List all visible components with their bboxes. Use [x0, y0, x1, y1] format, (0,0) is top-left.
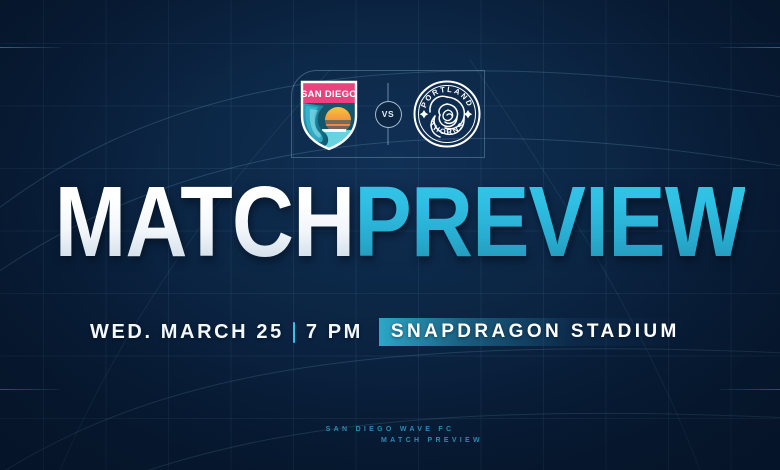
matchup-row: SAN DIEGO VS PORTLAND THORNS: [291, 62, 485, 166]
match-venue: SNAPDRAGON STADIUM: [391, 321, 680, 343]
footer-line-one: SAN DIEGO WAVE FC: [0, 424, 780, 435]
vs-divider: VS: [366, 62, 410, 166]
headline-word-match: MATCH: [55, 166, 355, 278]
match-time: 7 PM: [306, 321, 363, 343]
venue-highlight: SNAPDRAGON STADIUM: [379, 318, 686, 346]
match-date: WED. MARCH 25: [90, 321, 284, 343]
vs-badge: VS: [375, 101, 402, 128]
match-preview-graphic: SAN DIEGO VS PORTLAND THORNS: [0, 0, 780, 470]
portland-thorns-crest: PORTLAND THORNS: [412, 79, 482, 149]
home-crest-slot: SAN DIEGO: [292, 62, 366, 166]
footer-line-two: MATCH PREVIEW: [0, 435, 780, 446]
home-crest-wordmark: SAN DIEGO: [301, 89, 357, 100]
detail-separator: [293, 322, 295, 343]
corner-accent-top-right: [720, 47, 780, 48]
headline-word-preview: PREVIEW: [354, 166, 745, 278]
footer-watermark: SAN DIEGO WAVE FC MATCH PREVIEW: [0, 424, 780, 446]
corner-accent-bottom-right: [720, 389, 780, 390]
match-date-time: WED. MARCH 257 PM: [90, 321, 363, 344]
page-title: MATCHPREVIEW: [55, 172, 726, 272]
san-diego-wave-crest: SAN DIEGO: [298, 76, 360, 152]
away-crest-slot: PORTLAND THORNS: [410, 62, 484, 166]
corner-accent-bottom-left: [0, 389, 60, 390]
corner-accent-top-left: [0, 47, 60, 48]
match-details-bar: WED. MARCH 257 PM SNAPDRAGON STADIUM: [90, 318, 686, 346]
